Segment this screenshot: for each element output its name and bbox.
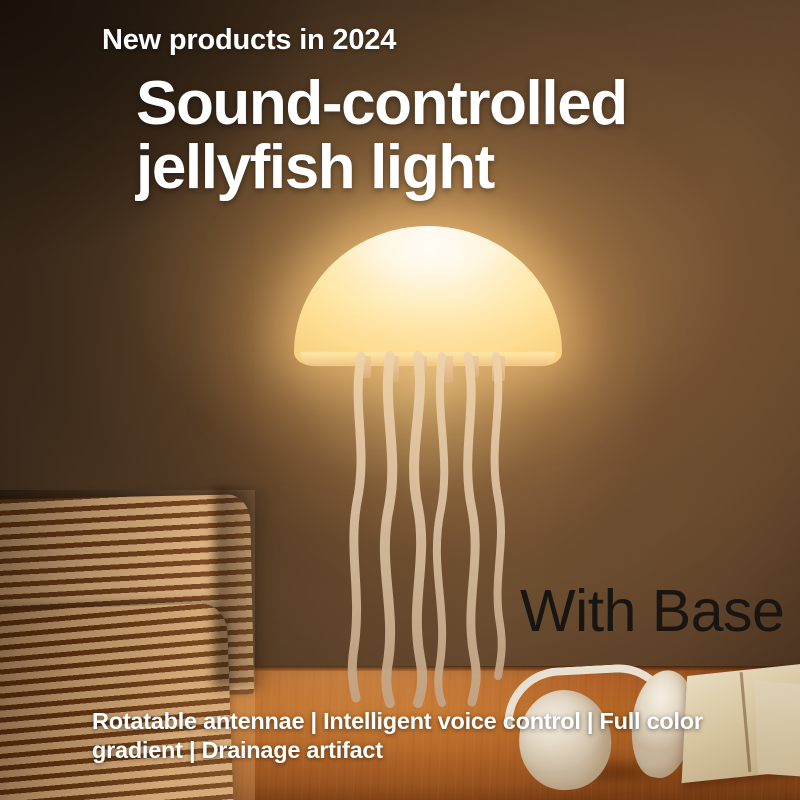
tentacle-6 <box>495 356 502 676</box>
tentacle-5 <box>468 356 476 702</box>
page-title: Sound-controlled jellyfish light <box>136 72 627 200</box>
tentacle-4 <box>437 356 444 703</box>
open-book-right-page <box>754 681 800 779</box>
product-ad-banner: New products in 2024 Sound-controlled je… <box>0 0 800 800</box>
feature-list-text: Rotatable antennae | Intelligent voice c… <box>92 707 752 764</box>
jellyfish-tentacles <box>330 352 530 704</box>
pillow-cast-shadow <box>214 488 274 688</box>
with-base-badge: With Base <box>520 577 784 645</box>
tentacle-1 <box>352 356 361 698</box>
eyebrow-text: New products in 2024 <box>102 24 396 57</box>
headline-line-1: Sound-controlled <box>136 72 627 136</box>
headline-line-2: jellyfish light <box>136 136 627 200</box>
tentacle-3 <box>414 356 422 703</box>
striped-pillow-lower <box>0 603 233 800</box>
tentacle-2 <box>385 356 392 703</box>
